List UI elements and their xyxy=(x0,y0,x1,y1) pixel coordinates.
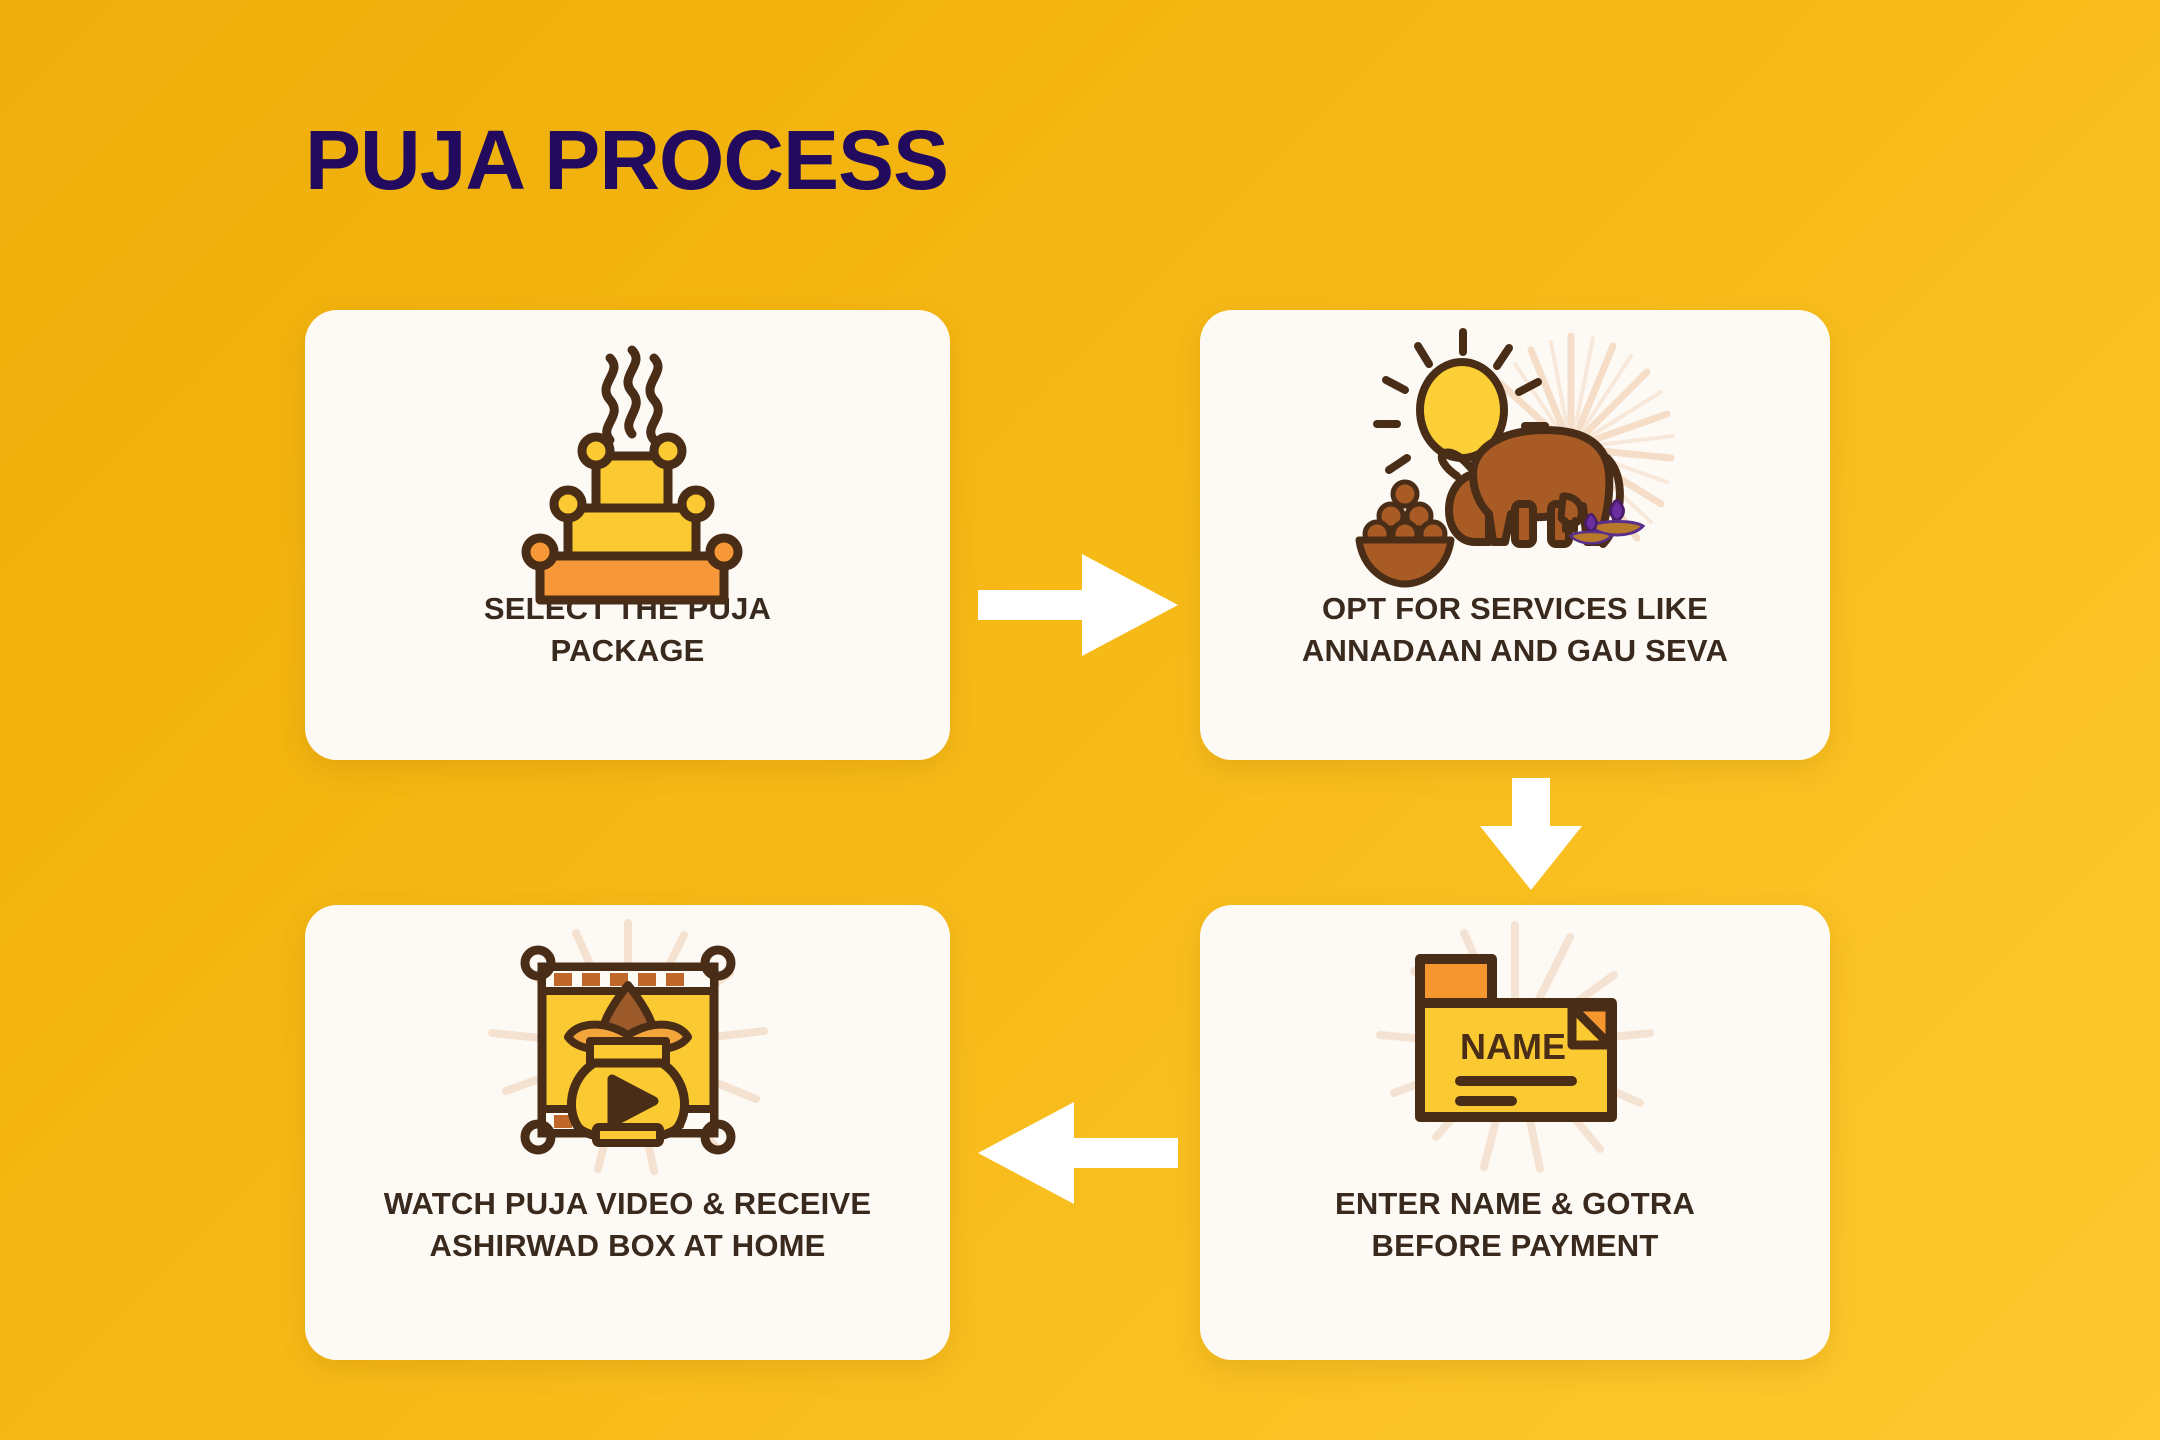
cow-sun-annadaan-icon xyxy=(1200,318,1830,588)
puja-video-kalash-icon xyxy=(305,913,950,1183)
step-card-3-label: ENTER NAME & GOTRA BEFORE PAYMENT xyxy=(1317,1183,1713,1267)
page-title: PUJA PROCESS xyxy=(305,118,948,202)
name-form-icon-text: NAME xyxy=(1460,1026,1566,1067)
arrow-right-icon xyxy=(978,552,1178,658)
name-form-icon: NAME xyxy=(1200,913,1830,1183)
arrow-down-icon xyxy=(1478,778,1584,890)
step-card-2-label: OPT FOR SERVICES LIKE ANNADAAN AND GAU S… xyxy=(1284,588,1746,672)
step-card-4[interactable]: WATCH PUJA VIDEO & RECEIVE ASHIRWAD BOX … xyxy=(305,905,950,1360)
step-card-1[interactable]: SELECT THE PUJA PACKAGE xyxy=(305,310,950,760)
infographic-canvas: PUJA PROCESS xyxy=(0,0,2160,1440)
step-card-4-label: WATCH PUJA VIDEO & RECEIVE ASHIRWAD BOX … xyxy=(366,1183,890,1267)
step-card-3[interactable]: NAME ENTER NAME & GOTRA BEFORE PAYMENT xyxy=(1200,905,1830,1360)
arrow-left-icon xyxy=(978,1100,1178,1206)
puja-altar-icon xyxy=(305,318,950,588)
step-card-2[interactable]: OPT FOR SERVICES LIKE ANNADAAN AND GAU S… xyxy=(1200,310,1830,760)
